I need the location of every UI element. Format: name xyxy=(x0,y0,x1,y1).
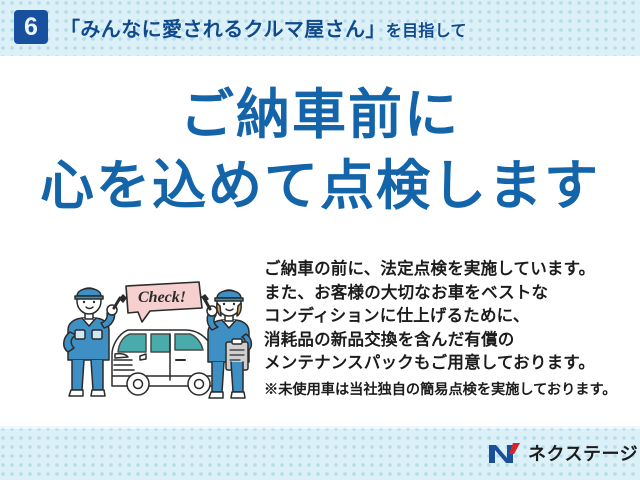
headline: ご納車前に 心を込めて点検します xyxy=(0,84,640,217)
body-line-5: メンテナンスパックもご用意しております。 xyxy=(264,352,632,376)
body-copy: ご納車の前に、法定点検を実施しています。 また、お客様の大切なお車をベストな コ… xyxy=(264,258,632,402)
mechanics-van-illustration: Check! xyxy=(58,268,264,410)
advertisement-page: 6 「みんなに愛されるクルマ屋さん」 を目指して ご納車前に 心を込めて点検しま… xyxy=(0,0,640,480)
nextage-n-mark xyxy=(487,441,521,465)
step-number-badge: 6 xyxy=(14,10,48,44)
van-illustration xyxy=(112,330,214,395)
body-line-2: また、お客様の大切なお車をベストな xyxy=(264,282,632,306)
body-line-4: 消耗品の新品交換を含んだ有償の xyxy=(264,329,632,353)
footer-band-edge xyxy=(0,426,640,429)
headline-line-1: ご納車前に xyxy=(0,84,640,147)
header-title: 「みんなに愛されるクルマ屋さん」 を目指して xyxy=(60,13,467,42)
header-title-suffix: を目指して xyxy=(386,17,467,41)
brand-logo: ネクステージ xyxy=(487,440,638,466)
body-line-3: コンディションに仕上げるために、 xyxy=(264,305,632,329)
headline-line-2: 心を込めて点検します xyxy=(0,155,640,218)
brand-name: ネクステージ xyxy=(528,440,638,466)
header-title-main: 「みんなに愛されるクルマ屋さん」 xyxy=(60,13,386,42)
body-footnote: ※未使用車は当社独自の簡易点検を実施しております。 xyxy=(264,379,632,403)
check-bubble-text: Check! xyxy=(138,289,186,306)
body-line-1: ご納車の前に、法定点検を実施しています。 xyxy=(264,258,632,282)
check-speech-bubble: Check! xyxy=(126,282,202,322)
header: 6 「みんなに愛されるクルマ屋さん」 を目指して xyxy=(14,10,467,44)
